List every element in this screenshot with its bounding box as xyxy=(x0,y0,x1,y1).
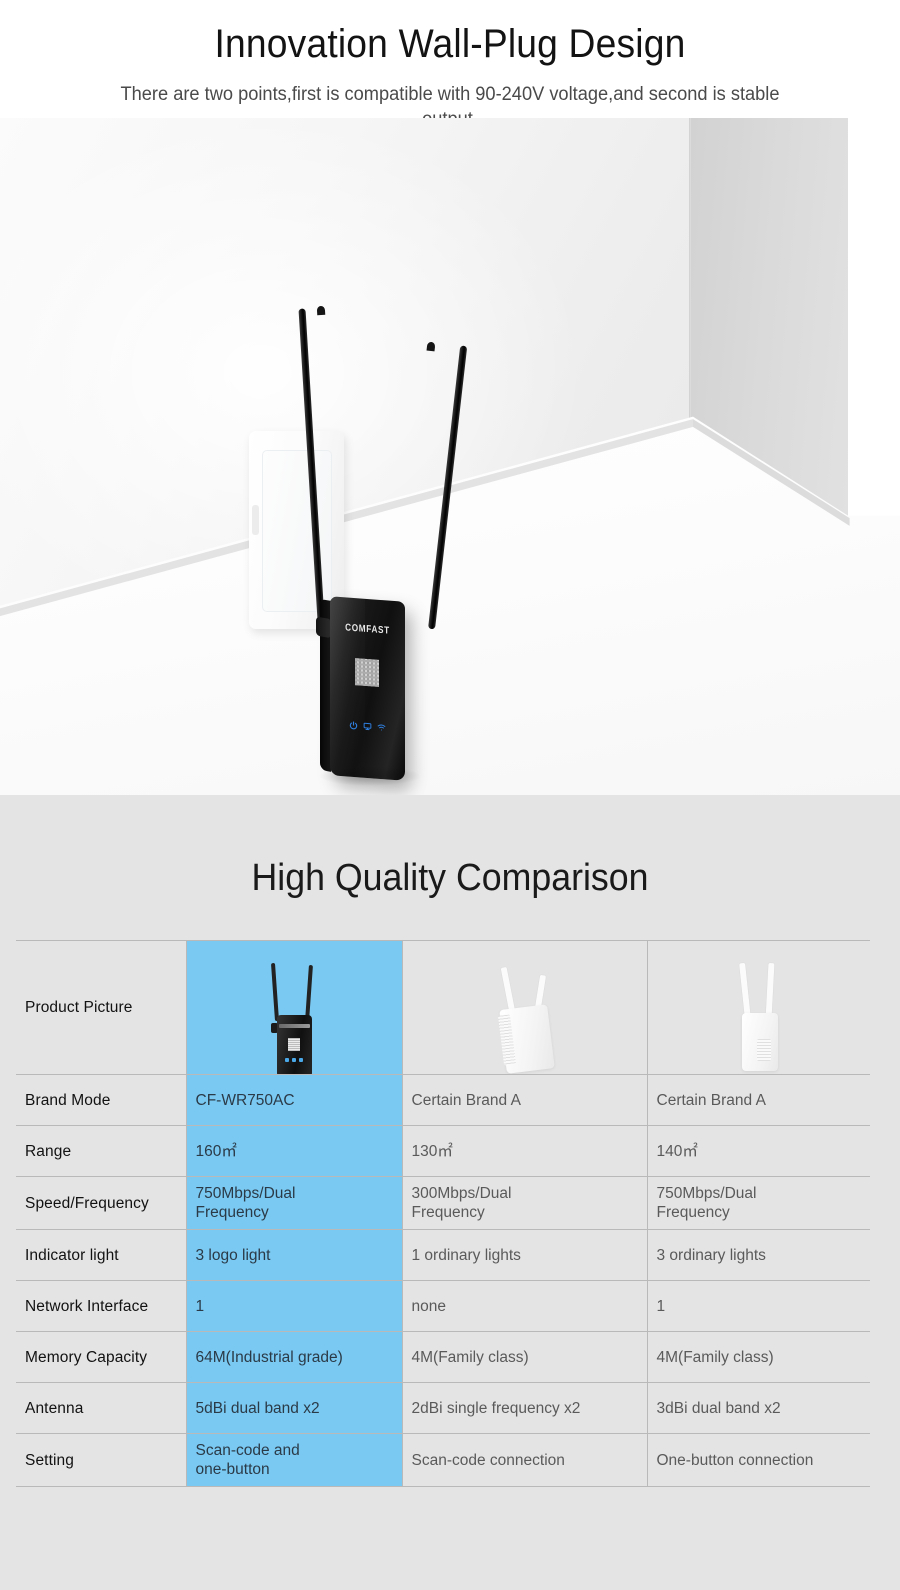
cell-brand-c: 3 ordinary lights xyxy=(647,1230,870,1281)
cell-line-2: one-button xyxy=(196,1460,393,1479)
antenna-left-tip xyxy=(317,306,326,315)
table-row: Brand Mode CF-WR750AC Certain Brand A Ce… xyxy=(16,1075,870,1126)
cell-brand-b: 1 ordinary lights xyxy=(402,1230,647,1281)
device-plug-prong xyxy=(316,616,330,637)
cell-line-1: 750Mbps/Dual xyxy=(196,1184,393,1203)
table-row: Setting Scan-code and one-button Scan-co… xyxy=(16,1434,870,1487)
cell-brand-c: 3dBi dual band x2 xyxy=(647,1383,870,1434)
row-label: Product Picture xyxy=(16,941,186,1075)
qr-code-icon xyxy=(355,658,379,687)
table-row: Range 160㎡ 130㎡ 140㎡ xyxy=(16,1126,870,1177)
cell-line-2: Frequency xyxy=(412,1203,638,1222)
cell-brand-c: 750Mbps/Dual Frequency xyxy=(647,1177,870,1230)
table-row: Speed/Frequency 750Mbps/Dual Frequency 3… xyxy=(16,1177,870,1230)
cell-brand-c: 4M(Family class) xyxy=(647,1332,870,1383)
table-row: Memory Capacity 64M(Industrial grade) 4M… xyxy=(16,1332,870,1383)
row-label: Speed/Frequency xyxy=(16,1177,186,1230)
cell-line-2: Frequency xyxy=(657,1203,862,1222)
product-thumb-brand-c xyxy=(647,941,870,1075)
table-row: Indicator light 3 logo light 1 ordinary … xyxy=(16,1230,870,1281)
product-detail-page: Innovation Wall-Plug Design There are tw… xyxy=(0,0,900,1590)
cell-brand-c: Certain Brand A xyxy=(647,1075,870,1126)
cell-ours: 3 logo light xyxy=(186,1230,402,1281)
cell-ours: 160㎡ xyxy=(186,1126,402,1177)
lan-led-icon xyxy=(363,718,372,737)
cell-ours: Scan-code and one-button xyxy=(186,1434,402,1487)
room-scene-illustration: COMFAST xyxy=(0,118,900,795)
cell-brand-c: 140㎡ xyxy=(647,1126,870,1177)
row-label: Setting xyxy=(16,1434,186,1487)
antenna-right-tip xyxy=(427,342,436,352)
comparison-table: Product Picture xyxy=(16,940,870,1487)
product-thumb-brand-b xyxy=(402,941,647,1075)
cell-ours: 64M(Industrial grade) xyxy=(186,1332,402,1383)
comparison-title: High Quality Comparison xyxy=(27,857,873,900)
cell-brand-b: 130㎡ xyxy=(402,1126,647,1177)
cell-brand-b: 4M(Family class) xyxy=(402,1332,647,1383)
row-label: Network Interface xyxy=(16,1281,186,1332)
wifi-repeater-device: COMFAST xyxy=(330,596,405,781)
cell-brand-b: 2dBi single frequency x2 xyxy=(402,1383,647,1434)
wifi-led-icon xyxy=(377,719,386,738)
cell-ours: 750Mbps/Dual Frequency xyxy=(186,1177,402,1230)
row-label: Range xyxy=(16,1126,186,1177)
row-label: Indicator light xyxy=(16,1230,186,1281)
table-row: Antenna 5dBi dual band x2 2dBi single fr… xyxy=(16,1383,870,1434)
cell-ours: 5dBi dual band x2 xyxy=(186,1383,402,1434)
power-led-icon xyxy=(349,717,358,736)
table-row: Product Picture xyxy=(16,941,870,1075)
cell-brand-b: 300Mbps/Dual Frequency xyxy=(402,1177,647,1230)
wall-socket-slot xyxy=(252,505,259,535)
cell-line-1: 300Mbps/Dual xyxy=(412,1184,638,1203)
table-row: Network Interface 1 none 1 xyxy=(16,1281,870,1332)
cell-line-2: Frequency xyxy=(196,1203,393,1222)
cell-ours: 1 xyxy=(186,1281,402,1332)
cell-line-1: Scan-code and xyxy=(196,1441,393,1460)
cell-line-1: 750Mbps/Dual xyxy=(657,1184,862,1203)
cell-brand-b: none xyxy=(402,1281,647,1332)
cell-brand-b: Scan-code connection xyxy=(402,1434,647,1487)
device-drop-shadow xyxy=(318,766,422,786)
hero-section: Innovation Wall-Plug Design There are tw… xyxy=(0,0,900,795)
comparison-section: High Quality Comparison Product Picture xyxy=(0,795,900,1590)
cell-brand-b: Certain Brand A xyxy=(402,1075,647,1126)
row-label: Memory Capacity xyxy=(16,1332,186,1383)
hero-title: Innovation Wall-Plug Design xyxy=(32,22,869,67)
cell-ours: CF-WR750AC xyxy=(186,1075,402,1126)
cell-brand-c: 1 xyxy=(647,1281,870,1332)
row-label: Antenna xyxy=(16,1383,186,1434)
row-label: Brand Mode xyxy=(16,1075,186,1126)
cell-brand-c: One-button connection xyxy=(647,1434,870,1487)
product-thumb-ours xyxy=(186,941,402,1075)
